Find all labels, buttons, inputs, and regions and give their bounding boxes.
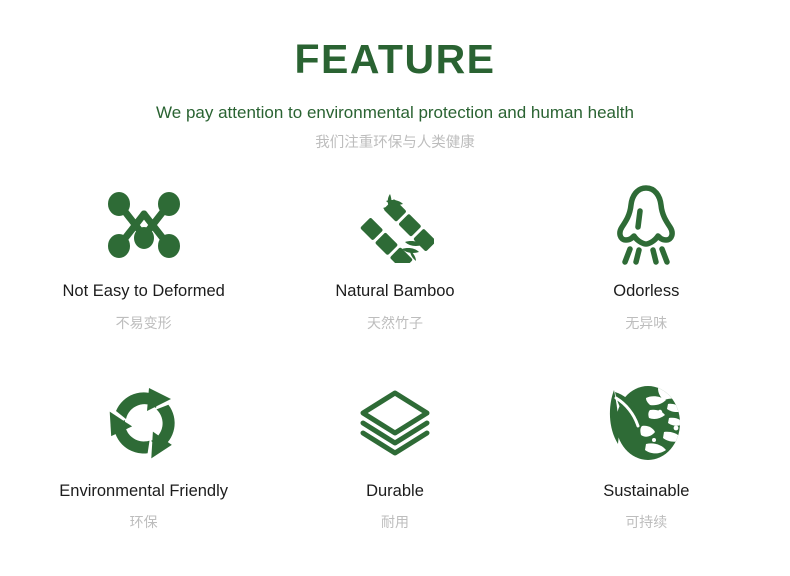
- feature-label-english: Sustainable: [603, 481, 689, 501]
- feature-grid: Not Easy to Deformed 不易变形: [0, 177, 790, 569]
- subtitle-chinese: 我们注重环保与人类健康: [0, 133, 790, 153]
- layers-icon: [357, 373, 433, 473]
- feature-label-english: Durable: [366, 481, 424, 501]
- feature-item-durable: Durable 耐用: [269, 373, 520, 569]
- feature-item-not-easy-to-deformed: Not Easy to Deformed 不易变形: [18, 177, 269, 373]
- section-header: FEATURE We pay attention to environmenta…: [0, 0, 790, 153]
- feature-label-english: Not Easy to Deformed: [63, 281, 225, 301]
- feature-label-english: Natural Bamboo: [335, 281, 454, 301]
- feature-label-chinese: 天然竹子: [367, 314, 423, 332]
- nose-icon: [610, 177, 682, 273]
- feature-label-english: Environmental Friendly: [59, 481, 228, 501]
- recycle-icon: [103, 373, 185, 473]
- page-title: FEATURE: [0, 36, 790, 82]
- molecule-x-icon: [106, 177, 182, 273]
- feature-label-chinese: 不易变形: [116, 314, 172, 332]
- feature-item-natural-bamboo: Natural Bamboo 天然竹子: [269, 177, 520, 373]
- feature-label-chinese: 耐用: [381, 513, 409, 531]
- bamboo-icon: [356, 177, 434, 273]
- feature-label-chinese: 无异味: [625, 314, 667, 332]
- feature-label-chinese: 可持续: [625, 513, 667, 531]
- feature-section: FEATURE We pay attention to environmenta…: [0, 0, 790, 576]
- feature-label-chinese: 环保: [130, 513, 158, 531]
- feature-item-environmental-friendly: Environmental Friendly 环保: [18, 373, 269, 569]
- feature-item-odorless: Odorless 无异味: [521, 177, 772, 373]
- subtitle-english: We pay attention to environmental protec…: [0, 102, 790, 124]
- globe-leaf-icon: [606, 373, 686, 473]
- feature-label-english: Odorless: [613, 281, 679, 301]
- feature-item-sustainable: Sustainable 可持续: [521, 373, 772, 569]
